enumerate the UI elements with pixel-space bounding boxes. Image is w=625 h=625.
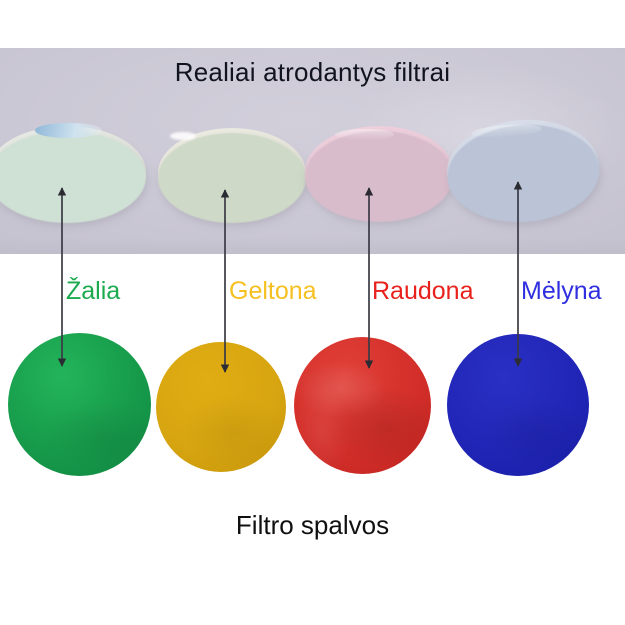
top-caption: Realiai atrodantys filtrai	[0, 57, 625, 88]
swatch-texture	[294, 337, 431, 474]
filter-color-circle-yellow	[156, 342, 286, 472]
color-label-yellow: Geltona	[229, 277, 317, 306]
real-filter-disc-green	[0, 126, 146, 218]
real-filter-disc-red	[305, 126, 453, 217]
color-label-green: Žalia	[66, 277, 120, 306]
filter-color-circle-green	[8, 333, 151, 476]
filter-color-circle-blue	[447, 334, 589, 476]
swatch-texture	[156, 342, 286, 472]
disc-edge	[305, 131, 453, 222]
bottom-caption: Filtro spalvos	[0, 510, 625, 541]
swatch-texture	[447, 334, 589, 476]
filter-color-circle-red	[294, 337, 431, 474]
real-filter-disc-yellow	[158, 128, 306, 218]
color-label-blue: Mėlyna	[521, 277, 602, 306]
color-label-red: Raudona	[372, 277, 473, 306]
figure-canvas: Realiai atrodantys filtrai Žalia Geltona…	[0, 0, 625, 625]
disc-edge	[158, 133, 306, 223]
swatch-texture	[8, 333, 151, 476]
